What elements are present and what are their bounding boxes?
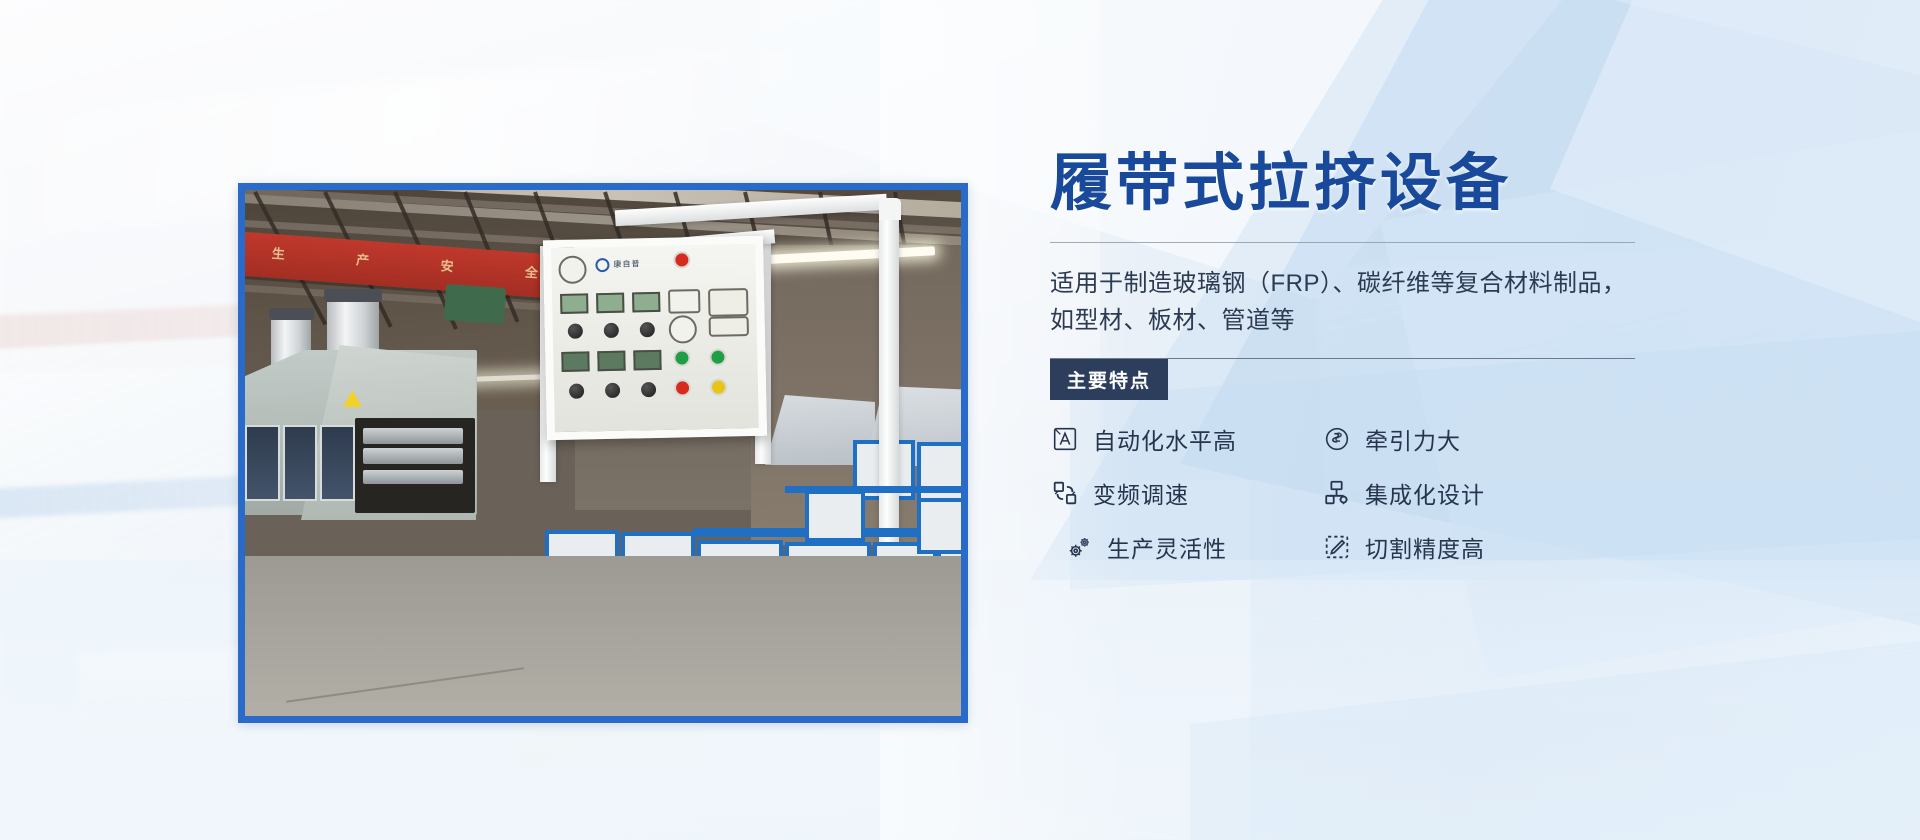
feature-item-automation: 自动化水平高 (1050, 422, 1322, 456)
product-description: 适用于制造玻璃钢（FRP）、碳纤维等复合材料制品，如型材、板材、管道等 (1050, 265, 1640, 339)
feature-item-cut-precision: 切割精度高 (1322, 530, 1594, 564)
integration-gear-icon (1322, 478, 1352, 508)
machine-control-panel: 康自普 (543, 236, 767, 441)
feature-label: 生产灵活性 (1107, 530, 1227, 564)
frequency-nodes-icon (1050, 478, 1080, 508)
product-photo-frame: 生 产 安 全 (238, 183, 968, 723)
feature-item-traction: 牵引力大 (1322, 422, 1594, 456)
feature-item-vfd: 变频调速 (1050, 476, 1322, 510)
traction-circle-icon (1322, 424, 1352, 454)
hero-content: 履带式拉挤设备 适用于制造玻璃钢（FRP）、碳纤维等复合材料制品，如型材、板材、… (1050, 150, 1690, 564)
gears-icon (1064, 532, 1094, 562)
feature-label: 变频调速 (1093, 476, 1189, 510)
feature-label: 牵引力大 (1365, 422, 1461, 456)
product-photo: 生 产 安 全 (245, 190, 961, 716)
letter-a-box-icon (1050, 424, 1080, 454)
feature-label: 集成化设计 (1365, 476, 1485, 510)
title-divider (1050, 242, 1635, 243)
product-hero-banner: 生 产 安 全 (0, 0, 1920, 840)
feature-item-integration: 集成化设计 (1322, 476, 1594, 510)
feature-list: 自动化水平高 牵引力大 (1050, 422, 1690, 564)
feature-label: 自动化水平高 (1093, 422, 1237, 456)
page-title: 履带式拉挤设备 (1050, 150, 1690, 218)
precision-cut-icon (1322, 532, 1352, 562)
feature-item-flexibility: 生产灵活性 (1050, 530, 1322, 564)
features-heading-row: 主要特点 (1050, 358, 1690, 392)
status-badge: 主要特点 (1050, 359, 1168, 400)
feature-label: 切割精度高 (1365, 530, 1485, 564)
